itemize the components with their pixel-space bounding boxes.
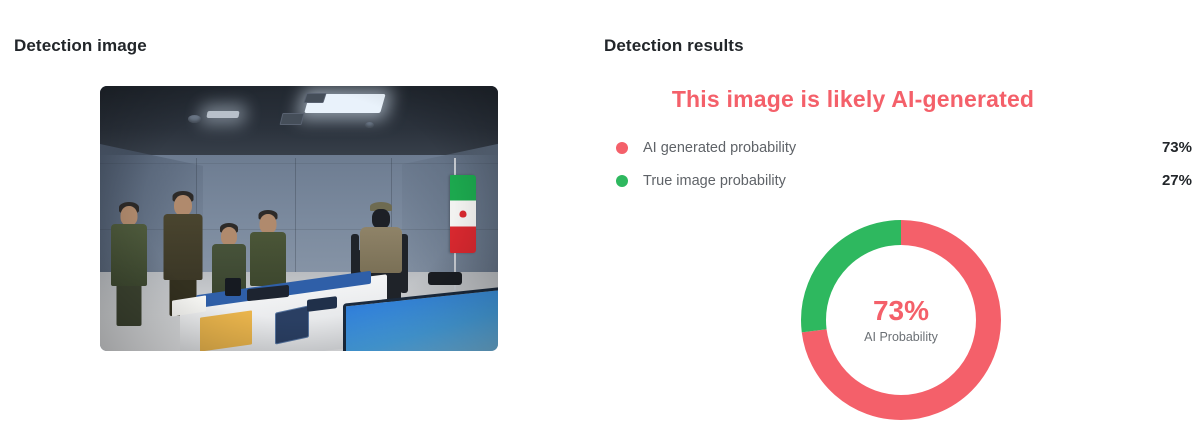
detection-image-heading: Detection image xyxy=(14,36,147,56)
probability-donut-chart: 73% AI Probability xyxy=(801,220,1001,420)
donut-center-caption: AI Probability xyxy=(864,330,938,344)
green-dot-icon xyxy=(616,175,628,187)
donut-center-value: 73% xyxy=(873,296,929,325)
donut-center-labels: 73% AI Probability xyxy=(801,220,1001,420)
legend-label-true-image: True image probability xyxy=(643,173,786,189)
detection-image-scene xyxy=(100,86,498,351)
detection-results-heading: Detection results xyxy=(604,36,744,56)
red-dot-icon xyxy=(616,142,628,154)
verdict-message: This image is likely AI-generated xyxy=(600,86,1106,113)
legend-label-ai-generated: AI generated probability xyxy=(643,140,796,156)
detection-image-panel: Detection image xyxy=(0,0,600,429)
legend-value-ai-generated: 73% xyxy=(1162,139,1192,156)
legend-value-true-image: 27% xyxy=(1162,172,1192,189)
legend-row-ai-generated: AI generated probability 73% xyxy=(608,131,1192,164)
detection-results-panel: Detection results This image is likely A… xyxy=(600,0,1200,429)
probability-legend: AI generated probability 73% True image … xyxy=(608,131,1192,197)
legend-row-true-image: True image probability 27% xyxy=(608,164,1192,197)
detection-image-thumbnail[interactable] xyxy=(100,86,498,351)
image-vignette xyxy=(100,86,498,351)
